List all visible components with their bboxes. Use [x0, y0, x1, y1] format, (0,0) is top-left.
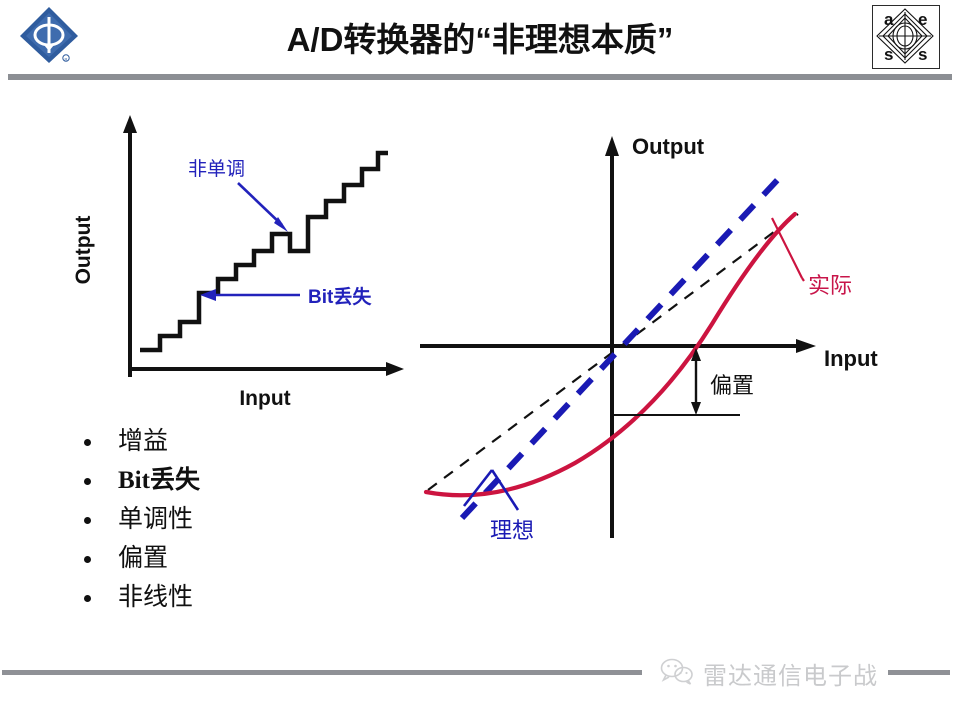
list-item-label: 非线性 [118, 584, 193, 611]
ideal-label: 理想 [490, 518, 534, 543]
ieee-logo-svg: R [16, 5, 82, 67]
left-chart-y-axis [123, 115, 137, 377]
left-chart-x-axis-label: Input [239, 387, 290, 410]
bullet-dot-icon [84, 439, 91, 446]
non-monotonic-annotation-arrow [238, 183, 288, 232]
bullet-dot-icon [84, 478, 91, 485]
non-monotonic-label: 非单调 [188, 158, 245, 180]
right-chart-y-axis-label: Output [632, 134, 705, 159]
right-chart-y-axis [605, 136, 619, 538]
right-chart-svg: 实际 理想 偏置 Output Input [400, 118, 960, 548]
svg-text:R: R [65, 57, 68, 62]
aess-letter-a: a [884, 10, 894, 29]
page-title: A/D转换器的“非理想本质” [150, 13, 810, 61]
left-chart-y-axis-label: Output [72, 216, 95, 285]
right-chart-transfer: 实际 理想 偏置 Output Input [400, 118, 960, 548]
list-item: 增益 [72, 424, 402, 459]
list-item-label: 单调性 [118, 506, 193, 533]
offset-label: 偏置 [710, 373, 754, 398]
list-item-label: Bit丢失 [118, 467, 200, 494]
left-chart-x-axis [128, 362, 404, 376]
ieee-diamond-logo: R [16, 5, 82, 67]
left-chart-staircase: 非单调 Bit丢失 Output Input [60, 105, 420, 415]
aess-logo: a e s s [872, 5, 940, 69]
right-chart-x-axis [420, 339, 816, 353]
bullet-dot-icon [84, 556, 91, 563]
list-item-label: 增益 [118, 428, 168, 455]
bit-loss-label: Bit丢失 [308, 285, 372, 308]
list-item: Bit丢失 [72, 463, 402, 498]
list-item: 非线性 [72, 580, 402, 615]
footer-brand: 雷达通信电子战 [660, 653, 878, 693]
actual-label-leader [772, 218, 802, 278]
header-divider [8, 74, 952, 80]
right-chart-x-axis-label: Input [824, 346, 878, 371]
bullet-dot-icon [84, 595, 91, 602]
left-chart-svg: 非单调 Bit丢失 Output Input [60, 105, 420, 415]
actual-label-leader-2 [802, 278, 804, 281]
slide-canvas: R A/D转换器的“非理想本质” a e s s [0, 0, 960, 720]
aess-letter-s1: s [884, 45, 893, 64]
list-item: 单调性 [72, 502, 402, 537]
footer-divider-right [888, 670, 950, 675]
staircase-curve [140, 153, 388, 350]
aess-letter-s2: s [918, 45, 927, 64]
actual-label: 实际 [808, 273, 852, 298]
aess-logo-svg: a e s s [873, 6, 937, 66]
bullet-dot-icon [84, 517, 91, 524]
footer-divider-left [2, 670, 642, 675]
bit-loss-annotation-arrow [200, 289, 300, 301]
slide-header: R A/D转换器的“非理想本质” a e s s [0, 0, 960, 76]
list-item-label: 偏置 [118, 545, 168, 572]
footer-brand-text: 雷达通信电子战 [703, 656, 878, 691]
list-item: 偏置 [72, 541, 402, 576]
aess-letter-e: e [918, 10, 927, 29]
wechat-icon [660, 657, 694, 690]
wechat-icon-svg [660, 657, 694, 685]
nonideality-bullet-list: 增益 Bit丢失 单调性 偏置 非线性 [72, 424, 402, 619]
